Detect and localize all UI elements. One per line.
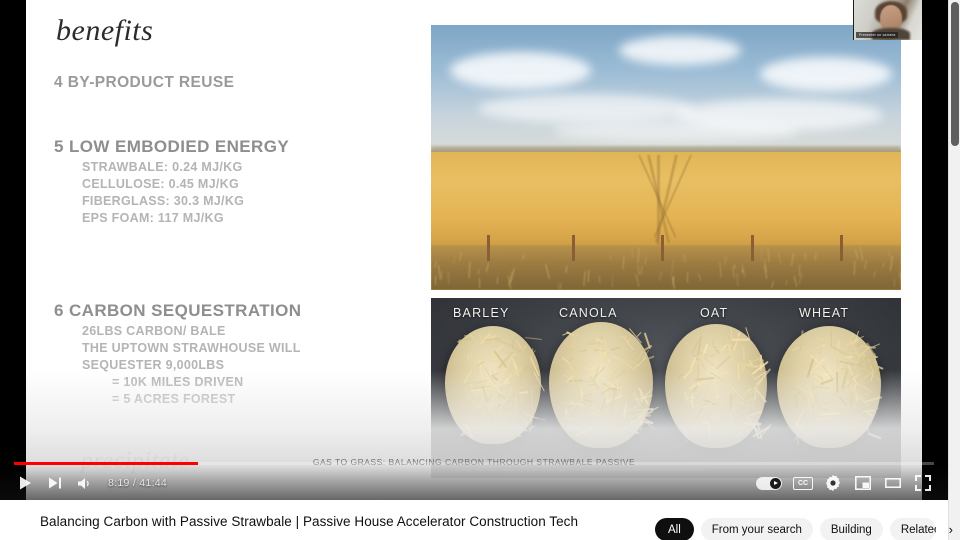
straw-strand: [816, 337, 823, 340]
straw-strand: [704, 336, 711, 338]
video-player[interactable]: benefits 4 BY-PRODUCT REUSE 5 LOW EMBODI…: [0, 0, 948, 500]
straw-strand: [587, 408, 588, 414]
straw-strand: [524, 364, 530, 372]
straw-strand: [563, 417, 578, 421]
fullscreen-button[interactable]: [908, 468, 938, 498]
straw-strand: [631, 429, 639, 433]
grass-blade: [737, 273, 738, 286]
straw-strand: [459, 338, 471, 340]
section-line: THE UPTOWN STRAWHOUSE WILL: [82, 341, 439, 355]
straw-strand: [699, 358, 705, 370]
cloud: [760, 57, 892, 91]
straw-pile-barley: [445, 326, 541, 444]
straw-strand: [814, 395, 822, 412]
grass-blade: [767, 248, 769, 262]
fence-post: [661, 235, 664, 261]
autoplay-toggle[interactable]: [756, 477, 782, 490]
grass-blade: [854, 261, 856, 275]
straw-strand: [679, 406, 683, 415]
section-line: 26LBS CARBON/ BALE: [82, 324, 439, 338]
straw-strand: [864, 409, 875, 411]
straw-strand: [684, 427, 688, 438]
settings-button[interactable]: [818, 468, 848, 498]
slide-text-column: benefits 4 BY-PRODUCT REUSE 5 LOW EMBODI…: [54, 14, 439, 406]
straw-strand: [587, 342, 597, 344]
volume-icon[interactable]: [70, 468, 100, 498]
grass-blade: [644, 257, 647, 265]
bale-label-wheat: WHEAT: [799, 306, 849, 320]
grass-blade: [719, 262, 721, 277]
player-controls: 8:19 / 41:44 CC: [0, 466, 948, 500]
slide-section-6: 6 CARBON SEQUESTRATION 26LBS CARBON/ BAL…: [54, 301, 439, 406]
section-line: EPS FOAM: 117 MJ/KG: [82, 211, 439, 225]
grass-blade: [671, 260, 674, 276]
straw-strand: [730, 338, 750, 340]
straw-pile-oat: [665, 324, 767, 448]
theater-mode-button[interactable]: [878, 468, 908, 498]
cloud: [478, 94, 694, 123]
filter-chips: All From your search Building Related ›: [655, 518, 959, 540]
straw-strand: [795, 395, 798, 408]
slide-section-4: 4 BY-PRODUCT REUSE: [54, 74, 439, 92]
straw-strand: [487, 359, 499, 362]
straw-strand: [600, 378, 606, 381]
next-video-button[interactable]: [40, 468, 70, 498]
straw-strand: [853, 419, 855, 425]
straw-strand: [531, 388, 533, 410]
slide-title: benefits: [56, 14, 439, 48]
straw-samples-photo: BARLEY CANOLA OAT WHEAT image: https://w…: [431, 298, 901, 478]
grass-blade: [900, 283, 901, 288]
grass-blade: [761, 248, 763, 261]
wheat-field-photo: [431, 25, 901, 290]
grass-blade: [786, 280, 787, 285]
grass-blade: [448, 272, 450, 284]
straw-strand: [711, 338, 715, 346]
grass-blade: [733, 264, 735, 269]
grass-blade: [610, 255, 612, 259]
straw-strand: [622, 380, 625, 387]
grass-blade: [631, 249, 633, 259]
straw-strand: [683, 396, 695, 398]
straw-strand: [605, 419, 615, 434]
straw-pile-wheat: [777, 326, 881, 448]
grass-blade: [883, 263, 884, 267]
grass-blade: [794, 276, 798, 287]
grass-blade: [565, 266, 567, 273]
grass-blade: [560, 283, 562, 289]
grass-blade: [683, 254, 685, 262]
section-heading: 5 LOW EMBODIED ENERGY: [54, 137, 439, 157]
grass-blade: [777, 252, 780, 263]
straw-strand: [628, 375, 633, 381]
grass-blade: [860, 246, 864, 261]
section-line: CELLULOSE: 0.45 MJ/KG: [82, 177, 439, 191]
grass-blade: [698, 273, 701, 281]
straw-strand: [708, 354, 717, 358]
grass-blade: [588, 270, 589, 282]
straw-strand: [848, 419, 869, 420]
grass-blade: [637, 247, 639, 263]
grass-blade: [791, 253, 794, 266]
bale-label-oat: OAT: [700, 306, 728, 320]
presenter-name-label: Presenter on camera: [856, 32, 898, 38]
straw-strand: [587, 348, 600, 366]
straw-strand: [585, 366, 592, 370]
play-button[interactable]: [10, 468, 40, 498]
grass-blade: [599, 276, 601, 283]
straw-strand: [804, 431, 806, 439]
section-heading: 4 BY-PRODUCT REUSE: [54, 74, 439, 92]
progress-bar[interactable]: [14, 462, 934, 465]
grass-blade: [805, 253, 806, 259]
fence-post: [751, 235, 754, 261]
straw-strand: [712, 376, 718, 396]
straw-pile-canola: [549, 322, 653, 448]
section-line: = 5 ACRES FOREST: [112, 392, 439, 406]
grass-blade: [453, 255, 456, 264]
grass-blade: [815, 253, 817, 261]
section-line: SEQUESTER 9,000LBS: [82, 358, 439, 372]
grass-blade: [497, 277, 498, 284]
autoplay-knob: [770, 478, 781, 489]
grass-blade: [486, 263, 489, 272]
straw-strand: [830, 329, 832, 347]
straw-strand: [825, 424, 833, 426]
straw-strand: [581, 407, 584, 418]
straw-strand: [610, 347, 621, 351]
chip-from-your-search[interactable]: From your search: [701, 518, 813, 540]
straw-strand: [564, 385, 570, 389]
grass-blade: [899, 272, 901, 281]
cloud: [450, 52, 591, 89]
grass-blade: [888, 250, 891, 260]
grass-blade: [622, 256, 624, 269]
chip-building[interactable]: Building: [820, 518, 883, 540]
grass-blade: [523, 255, 525, 259]
straw-strand: [521, 394, 523, 403]
time-display: 8:19 / 41:44: [108, 477, 167, 489]
grass-blade: [434, 261, 436, 268]
straw-strand: [467, 354, 468, 360]
video-frame-slide: benefits 4 BY-PRODUCT REUSE 5 LOW EMBODI…: [26, 0, 922, 500]
grass-blade: [468, 262, 470, 278]
straw-strand: [501, 427, 520, 437]
straw-strand: [516, 340, 522, 349]
section-line: = 10K MILES DRIVEN: [112, 375, 439, 389]
straw-strand: [729, 394, 732, 412]
straw-strand: [812, 379, 818, 381]
section-line: STRAWBALE: 0.24 MJ/KG: [82, 160, 439, 174]
straw-strand: [842, 426, 849, 428]
straw-strand: [618, 431, 623, 436]
grass-blade: [583, 271, 585, 286]
fence-post: [487, 235, 490, 261]
cloud: [619, 36, 741, 65]
section-heading: 6 CARBON SEQUESTRATION: [54, 301, 439, 321]
foreground-grass: [431, 245, 901, 290]
straw-strand: [737, 345, 743, 360]
grass-blade: [612, 277, 613, 287]
grass-blade: [864, 260, 867, 269]
grass-blade: [479, 278, 480, 288]
straw-strand: [506, 412, 512, 418]
straw-strand: [578, 349, 588, 353]
straw-strand: [678, 373, 684, 379]
captions-button[interactable]: CC: [788, 468, 818, 498]
cloud: [553, 120, 797, 141]
scrollbar-thumb[interactable]: [951, 2, 959, 146]
bale-label-canola: CANOLA: [559, 306, 618, 320]
grass-blade: [854, 250, 858, 260]
grass-blade: [771, 281, 773, 288]
straw-strand: [716, 427, 723, 439]
miniplayer-button[interactable]: [848, 468, 878, 498]
straw-strand: [716, 355, 732, 370]
chips-next-arrow[interactable]: ›: [943, 518, 959, 540]
bale-label-barley: BARLEY: [453, 306, 510, 320]
chip-related[interactable]: Related: [890, 518, 936, 540]
video-title[interactable]: Balancing Carbon with Passive Strawbale …: [40, 514, 578, 529]
straw-strand: [737, 362, 740, 381]
straw-strand: [823, 408, 829, 412]
presenter-webcam-pip[interactable]: Presenter on camera: [853, 0, 922, 40]
grass-blade: [635, 274, 639, 287]
straw-strand: [822, 402, 830, 405]
straw-strand: [599, 347, 602, 362]
page-scrollbar[interactable]: [948, 0, 960, 540]
fence-post: [840, 235, 843, 261]
grass-blade: [724, 257, 726, 265]
cc-icon: CC: [793, 477, 813, 490]
straw-strand: [792, 346, 799, 351]
grass-blade: [477, 269, 479, 275]
fence-post: [572, 235, 575, 261]
grass-blade: [459, 252, 462, 261]
grass-blade: [874, 271, 876, 277]
section-line: FIBERGLASS: 30.3 MJ/KG: [82, 194, 439, 208]
grass-blade: [545, 264, 550, 279]
grass-blade: [687, 272, 688, 283]
straw-strand: [684, 342, 691, 349]
youtube-watch-page: benefits 4 BY-PRODUCT REUSE 5 LOW EMBODI…: [0, 0, 960, 540]
straw-strand: [623, 356, 634, 358]
straw-strand: [735, 432, 743, 438]
straw-strand: [813, 386, 830, 388]
grass-blade: [435, 276, 436, 285]
straw-strand: [719, 398, 728, 409]
chip-all[interactable]: All: [655, 518, 694, 540]
grass-blade: [637, 265, 639, 275]
straw-strand: [528, 385, 540, 388]
grass-blade: [441, 271, 442, 278]
straw-strand: [593, 414, 605, 418]
slide-section-5: 5 LOW EMBODIED ENERGY STRAWBALE: 0.24 MJ…: [54, 137, 439, 225]
grass-blade: [894, 279, 895, 287]
straw-strand: [729, 412, 734, 428]
straw-strand: [725, 418, 728, 437]
progress-played: [14, 462, 198, 465]
grass-blade: [640, 266, 642, 275]
straw-strand: [619, 336, 627, 338]
straw-strand: [617, 357, 633, 369]
straw-strand: [837, 372, 839, 393]
straw-strand: [719, 371, 729, 376]
grass-blade: [742, 264, 746, 277]
grass-blade: [659, 271, 662, 281]
